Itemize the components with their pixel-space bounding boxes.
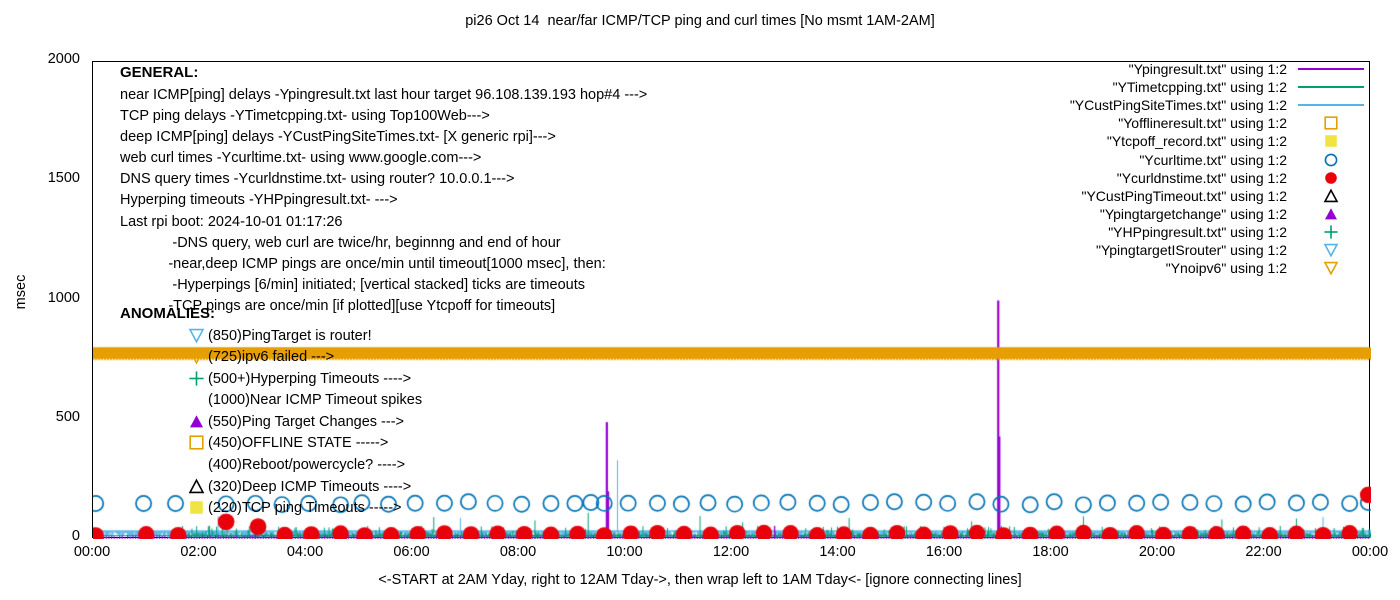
legend-item[interactable]: "YpingtargetISrouter" using 1:2 bbox=[948, 241, 1368, 259]
x-tick-label: 20:00 bbox=[1112, 544, 1202, 560]
open-square-icon bbox=[188, 434, 206, 452]
open-triangle-up-icon bbox=[1294, 187, 1368, 205]
x-tick-label: 06:00 bbox=[367, 544, 457, 560]
x-tick-label: 04:00 bbox=[260, 544, 350, 560]
filled-triangle-up-icon bbox=[188, 413, 206, 431]
x-tick-label: 00:00 bbox=[1325, 544, 1400, 560]
anomaly-label: (850)PingTarget is router! bbox=[208, 328, 372, 344]
x-tick-label: 10:00 bbox=[580, 544, 670, 560]
line-icon bbox=[1294, 60, 1368, 78]
legend-item[interactable]: "Ynoipv6" using 1:2 bbox=[948, 259, 1368, 277]
legend-label: "Ycurldnstime.txt" using 1:2 bbox=[1117, 170, 1287, 186]
anomaly-item: (725)ipv6 failed ---> bbox=[120, 347, 422, 369]
anomaly-label: (550)Ping Target Changes ---> bbox=[208, 414, 404, 430]
anomaly-item: (320)Deep ICMP Timeouts ----> bbox=[120, 477, 422, 499]
filled-circle-icon bbox=[1294, 169, 1368, 187]
x-tick-label: 14:00 bbox=[793, 544, 883, 560]
open-circle-icon bbox=[1294, 151, 1368, 169]
legend-label: "Ypingresult.txt" using 1:2 bbox=[1129, 61, 1287, 77]
anomaly-item: (220)TCP ping Timeouts -----> bbox=[120, 498, 422, 520]
legend-item[interactable]: "Ypingresult.txt" using 1:2 bbox=[948, 60, 1368, 78]
general-line: -near,deep ICMP pings are once/min until… bbox=[120, 254, 647, 275]
y-tick-label: 1000 bbox=[18, 290, 80, 306]
anomaly-label: (400)Reboot/powercycle? ----> bbox=[208, 457, 405, 473]
open-triangle-down-icon bbox=[188, 327, 206, 345]
anomaly-label: (500+)Hyperping Timeouts ----> bbox=[208, 371, 411, 387]
anomaly-label: (320)Deep ICMP Timeouts ----> bbox=[208, 479, 411, 495]
general-line: -Hyperpings [6/min] initiated; [vertical… bbox=[120, 275, 647, 296]
general-line: Last rpi boot: 2024-10-01 01:17:26 bbox=[120, 212, 647, 233]
legend-item[interactable]: "YCustPingTimeout.txt" using 1:2 bbox=[948, 187, 1368, 205]
legend-label: "Ycurltime.txt" using 1:2 bbox=[1139, 152, 1287, 168]
filled-triangle-up-icon bbox=[1294, 205, 1368, 223]
filled-square-icon bbox=[1294, 132, 1368, 150]
legend-item[interactable]: "YTimetcpping.txt" using 1:2 bbox=[948, 78, 1368, 96]
general-line: near ICMP[ping] delays -Ypingresult.txt … bbox=[120, 85, 647, 106]
plus-icon bbox=[188, 370, 206, 388]
legend-item[interactable]: "Ycurltime.txt" using 1:2 bbox=[948, 150, 1368, 168]
anomalies-annotation-block: ANOMALIES:(850)PingTarget is router!(725… bbox=[120, 303, 422, 520]
anomaly-item: (1000)Near ICMP Timeout spikes bbox=[120, 390, 422, 412]
page-title: pi26 Oct 14 near/far ICMP/TCP ping and c… bbox=[0, 13, 1400, 29]
x-tick-label: 18:00 bbox=[1006, 544, 1096, 560]
legend-label: "YCustPingSiteTimes.txt" using 1:2 bbox=[1070, 97, 1287, 113]
general-line: Hyperping timeouts -YHPpingresult.txt- -… bbox=[120, 190, 647, 211]
legend-label: "YTimetcpping.txt" using 1:2 bbox=[1113, 79, 1287, 95]
general-heading: GENERAL: bbox=[120, 62, 647, 85]
anomaly-label: (725)ipv6 failed ---> bbox=[208, 349, 334, 365]
legend-label: "Ypingtargetchange" using 1:2 bbox=[1100, 206, 1287, 222]
general-line: DNS query times -Ycurldnstime.txt- using… bbox=[120, 169, 647, 190]
anomaly-label: (1000)Near ICMP Timeout spikes bbox=[208, 392, 422, 408]
general-line: deep ICMP[ping] delays -YCustPingSiteTim… bbox=[120, 127, 647, 148]
anomaly-item: (500+)Hyperping Timeouts ----> bbox=[120, 369, 422, 391]
open-triangle-up-icon bbox=[188, 478, 206, 496]
legend-item[interactable]: "Ytcpoff_record.txt" using 1:2 bbox=[948, 132, 1368, 150]
x-tick-label: 00:00 bbox=[47, 544, 137, 560]
y-tick-label: 500 bbox=[18, 409, 80, 425]
anomaly-label: (450)OFFLINE STATE -----> bbox=[208, 435, 388, 451]
line-icon bbox=[1294, 96, 1368, 114]
legend: "Ypingresult.txt" using 1:2"YTimetcpping… bbox=[948, 60, 1368, 277]
y-tick-label: 2000 bbox=[18, 51, 80, 67]
anomalies-heading: ANOMALIES: bbox=[120, 303, 422, 326]
open-triangle-down-icon bbox=[188, 348, 206, 366]
anomaly-item: (450)OFFLINE STATE -----> bbox=[120, 433, 422, 455]
open-triangle-down-icon bbox=[1294, 259, 1368, 277]
x-tick-label: 16:00 bbox=[899, 544, 989, 560]
chart-page: pi26 Oct 14 near/far ICMP/TCP ping and c… bbox=[0, 0, 1400, 600]
general-line: web curl times -Ycurltime.txt- using www… bbox=[120, 148, 647, 169]
legend-label: "Ytcpoff_record.txt" using 1:2 bbox=[1107, 133, 1287, 149]
legend-item[interactable]: "Yofflineresult.txt" using 1:2 bbox=[948, 114, 1368, 132]
open-square-icon bbox=[1294, 114, 1368, 132]
legend-item[interactable]: "YHPpingresult.txt" using 1:2 bbox=[948, 223, 1368, 241]
line-icon bbox=[1294, 78, 1368, 96]
legend-label: "YHPpingresult.txt" using 1:2 bbox=[1108, 224, 1287, 240]
filled-square-icon bbox=[188, 499, 206, 517]
anomaly-label: (220)TCP ping Timeouts -----> bbox=[208, 500, 402, 516]
x-tick-label: 22:00 bbox=[1219, 544, 1309, 560]
general-annotation-block: GENERAL:near ICMP[ping] delays -Ypingres… bbox=[120, 62, 647, 318]
anomaly-item: (850)PingTarget is router! bbox=[120, 326, 422, 348]
legend-label: "Ynoipv6" using 1:2 bbox=[1166, 260, 1287, 276]
y-tick-label: 0 bbox=[18, 528, 80, 544]
legend-item[interactable]: "Ypingtargetchange" using 1:2 bbox=[948, 205, 1368, 223]
anomaly-item: (550)Ping Target Changes ---> bbox=[120, 412, 422, 434]
x-axis-caption: <-START at 2AM Yday, right to 12AM Tday-… bbox=[0, 572, 1400, 588]
x-tick-label: 12:00 bbox=[686, 544, 776, 560]
y-tick-label: 1500 bbox=[18, 170, 80, 186]
plus-icon bbox=[1294, 223, 1368, 241]
legend-item[interactable]: "YCustPingSiteTimes.txt" using 1:2 bbox=[948, 96, 1368, 114]
legend-label: "Yofflineresult.txt" using 1:2 bbox=[1118, 115, 1287, 131]
general-line: TCP ping delays -YTimetcpping.txt- using… bbox=[120, 106, 647, 127]
general-line: -DNS query, web curl are twice/hr, begin… bbox=[120, 233, 647, 254]
x-tick-label: 08:00 bbox=[473, 544, 563, 560]
x-tick-label: 02:00 bbox=[154, 544, 244, 560]
anomaly-item: (400)Reboot/powercycle? ----> bbox=[120, 455, 422, 477]
legend-label: "YpingtargetISrouter" using 1:2 bbox=[1096, 242, 1287, 258]
legend-item[interactable]: "Ycurldnstime.txt" using 1:2 bbox=[948, 169, 1368, 187]
legend-label: "YCustPingTimeout.txt" using 1:2 bbox=[1081, 188, 1287, 204]
open-triangle-down-icon bbox=[1294, 241, 1368, 259]
